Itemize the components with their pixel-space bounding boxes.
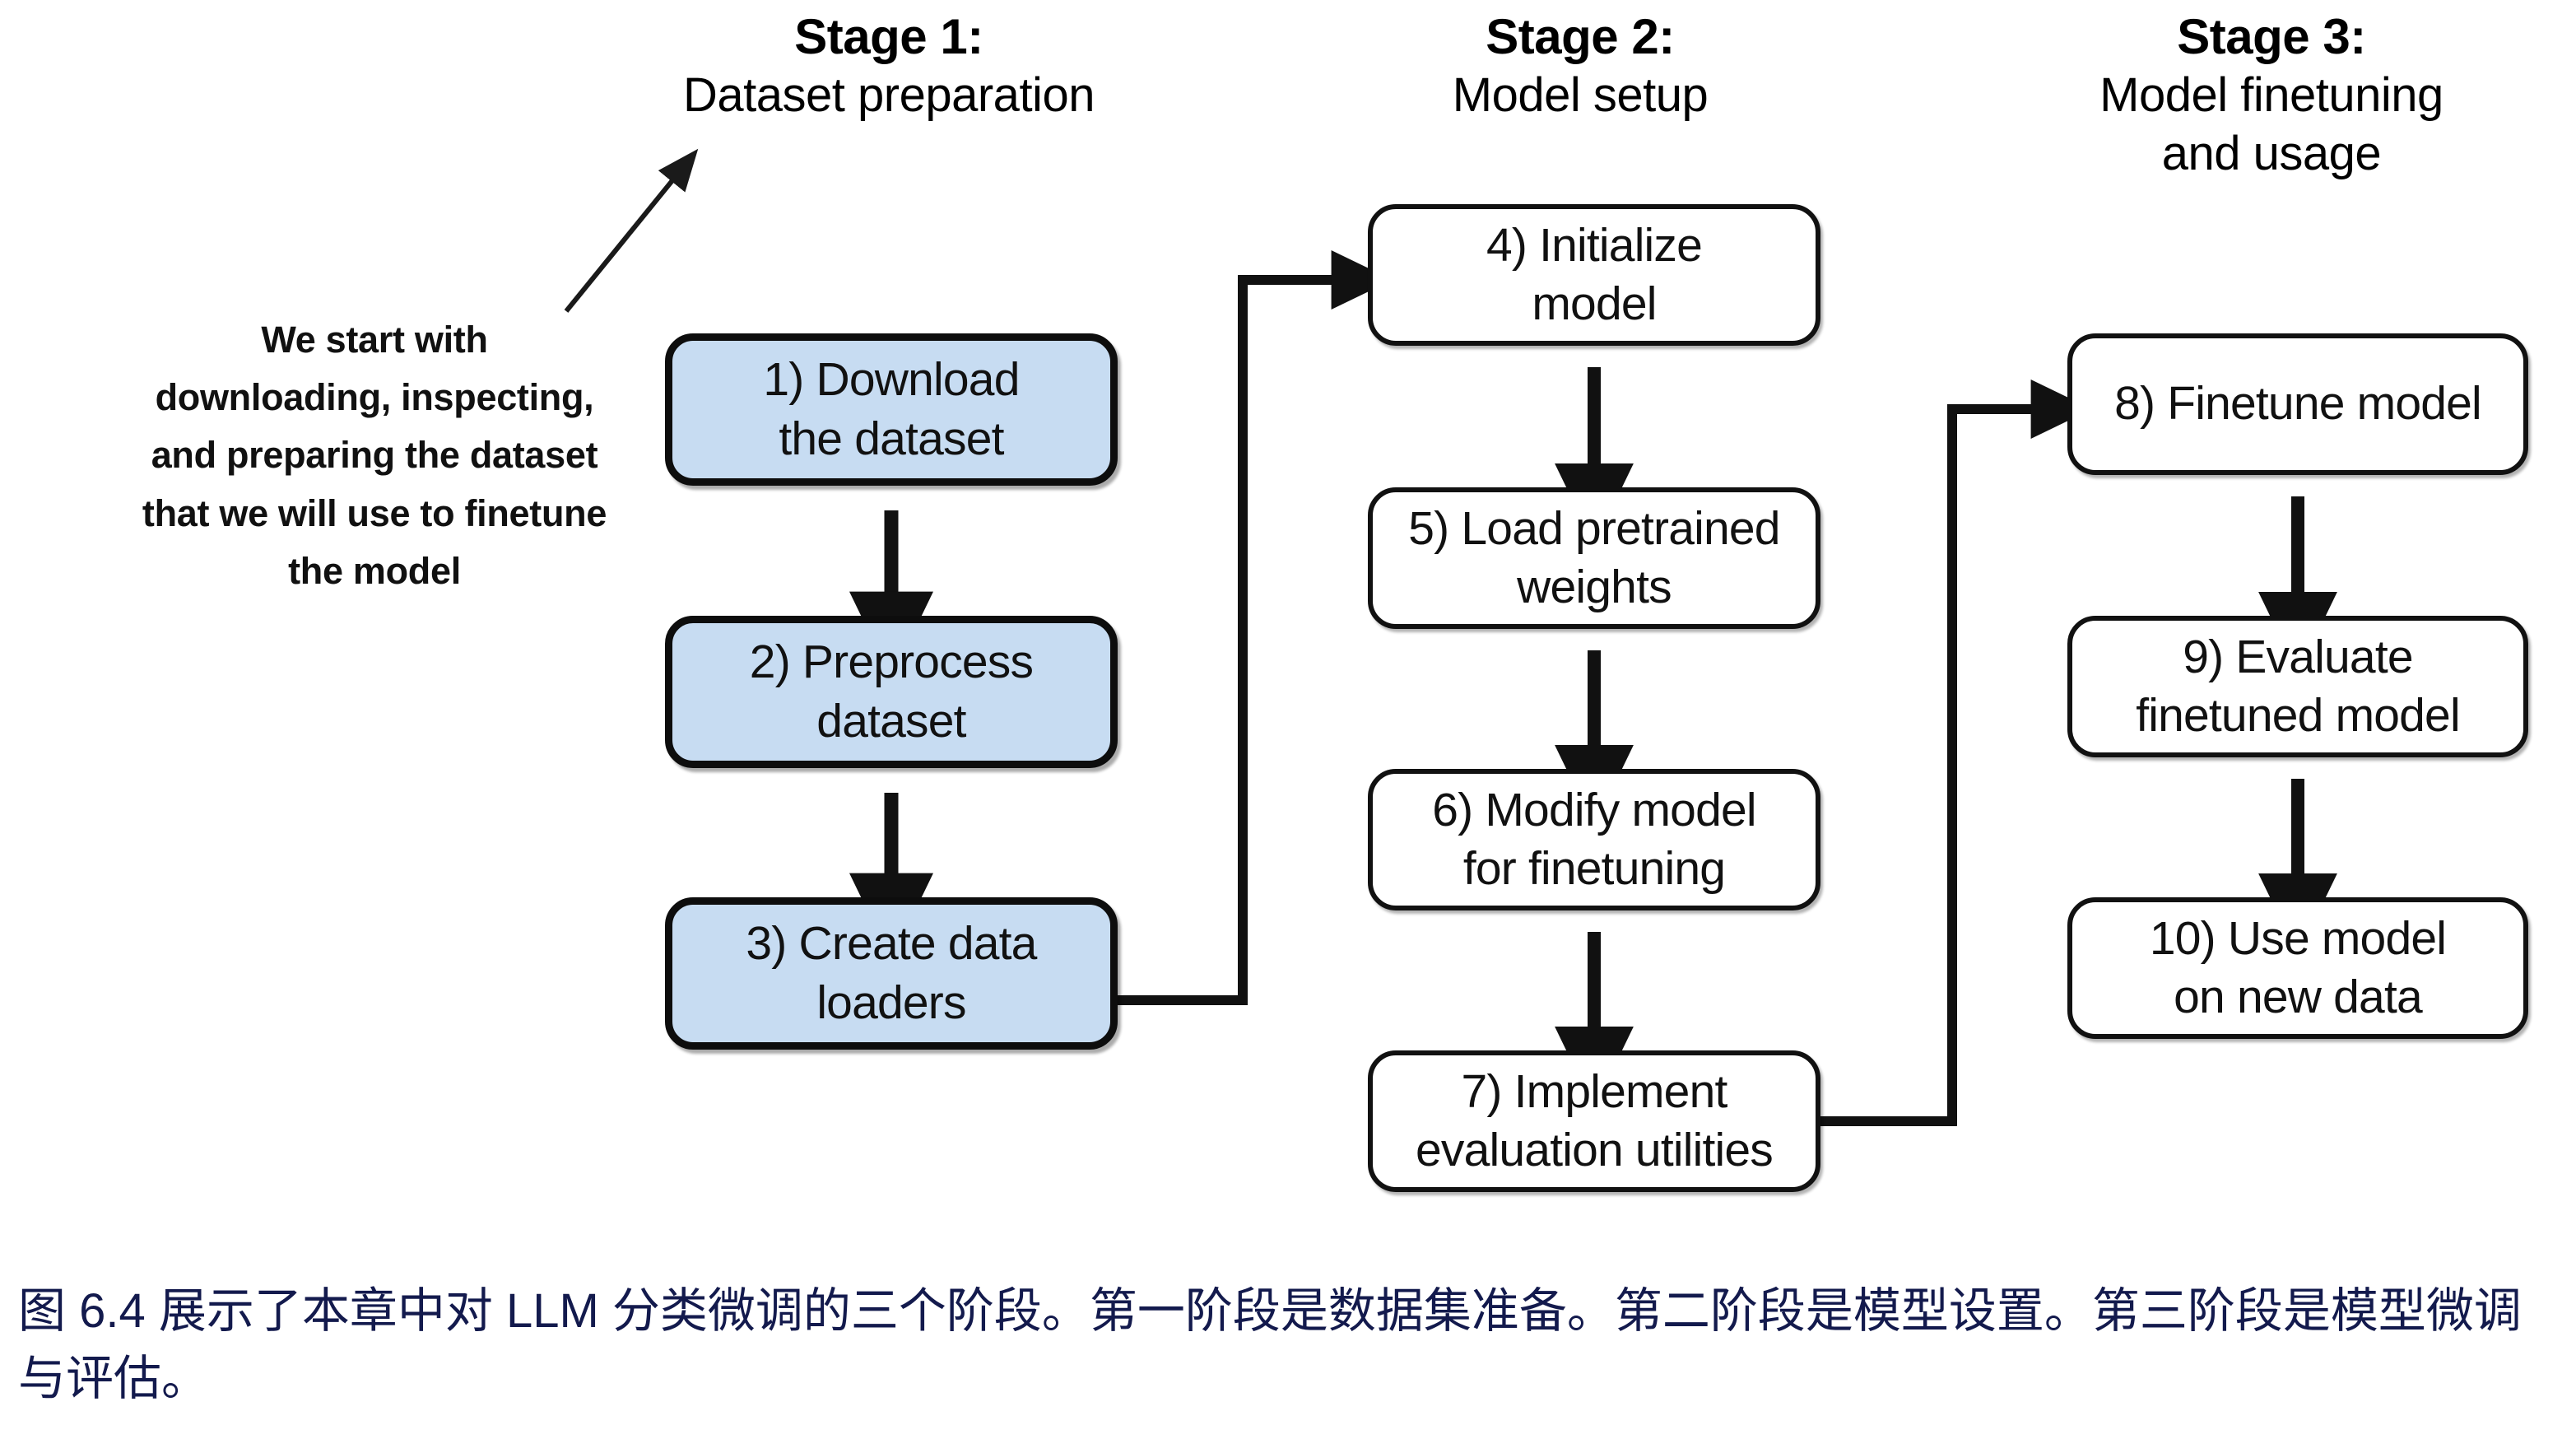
- stage-1-subtitle: Dataset preparation: [510, 67, 1267, 125]
- flow-box-label: 9) Evaluate finetuned model: [2136, 628, 2460, 746]
- stage-3-header: Stage 3: Model finetuning and usage: [1959, 7, 2576, 184]
- stage-2-subtitle: Model setup: [1284, 67, 1876, 125]
- flow-box-load-pretrained-weights[interactable]: 5) Load pretrained weights: [1368, 487, 1820, 629]
- annotation-to-stage1-arrow: [566, 179, 673, 311]
- annotation-line-5: the model: [91, 543, 658, 600]
- flow-box-label: 1) Download the dataset: [763, 351, 1019, 468]
- stage-1-title: Stage 1:: [510, 7, 1267, 67]
- flow-box-label: 6) Modify model for finetuning: [1432, 781, 1756, 899]
- stage-3-subtitle: Model finetuning and usage: [1959, 67, 2576, 184]
- stage-3-title: Stage 3:: [1959, 7, 2576, 67]
- flow-box-implement-evaluation-utilities[interactable]: 7) Implement evaluation utilities: [1368, 1050, 1820, 1192]
- flow-box-finetune-model[interactable]: 8) Finetune model: [2067, 333, 2528, 475]
- flow-box-label: 10) Use model on new data: [2150, 910, 2446, 1027]
- arrow-7-to-8: [1820, 409, 2033, 1121]
- flow-box-label: 5) Load pretrained weights: [1408, 500, 1779, 617]
- stage-2-title: Stage 2:: [1284, 7, 1876, 67]
- flow-box-modify-model-for-finetuning[interactable]: 6) Modify model for finetuning: [1368, 769, 1820, 910]
- flow-box-label: 4) Initialize model: [1486, 217, 1702, 334]
- stage-2-header: Stage 2: Model setup: [1284, 7, 1876, 125]
- annotation-line-1: We start with: [91, 311, 658, 369]
- flow-box-preprocess-dataset[interactable]: 2) Preprocess dataset: [665, 616, 1118, 768]
- figure-caption: 图 6.4 展示了本章中对 LLM 分类微调的三个阶段。第一阶段是数据集准备。第…: [18, 1278, 2561, 1413]
- flow-box-label: 3) Create data loaders: [746, 915, 1036, 1032]
- flow-box-label: 7) Implement evaluation utilities: [1416, 1063, 1773, 1181]
- flow-box-create-data-loaders[interactable]: 3) Create data loaders: [665, 897, 1118, 1050]
- arrow-3-to-4: [1118, 280, 1333, 1000]
- flow-box-use-model-on-new-data[interactable]: 10) Use model on new data: [2067, 897, 2528, 1039]
- flow-box-label: 8) Finetune model: [2114, 375, 2481, 433]
- annotation-note: We start with downloading, inspecting, a…: [91, 311, 658, 600]
- annotation-line-3: and preparing the dataset: [91, 426, 658, 484]
- annotation-line-4: that we will use to finetune: [91, 485, 658, 543]
- stage-1-header: Stage 1: Dataset preparation: [510, 7, 1267, 125]
- flow-box-evaluate-finetuned-model[interactable]: 9) Evaluate finetuned model: [2067, 616, 2528, 757]
- flowchart-diagram: Stage 1: Dataset preparation Stage 2: Mo…: [0, 0, 2576, 1251]
- annotation-line-2: downloading, inspecting,: [91, 369, 658, 426]
- flow-box-initialize-model[interactable]: 4) Initialize model: [1368, 204, 1820, 346]
- flow-box-label: 2) Preprocess dataset: [750, 633, 1033, 751]
- flow-box-download-dataset[interactable]: 1) Download the dataset: [665, 333, 1118, 486]
